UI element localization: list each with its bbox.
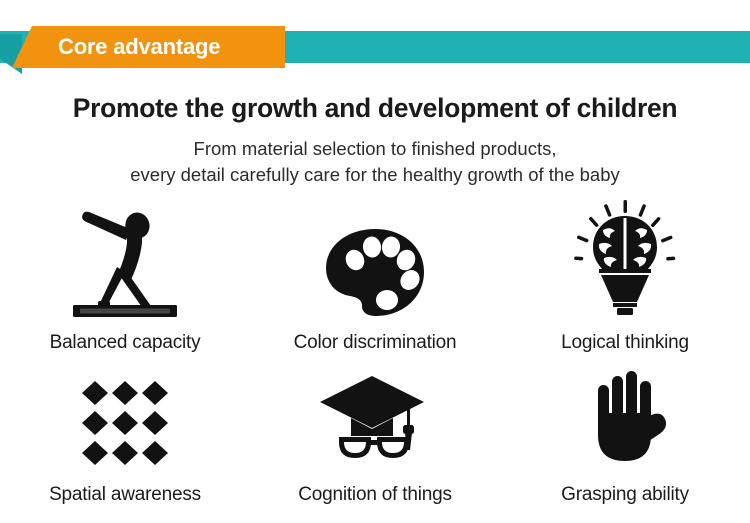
feature-item-balanced-capacity: Balanced capacity [0, 200, 250, 368]
feature-item-spatial-awareness: Spatial awareness [0, 368, 250, 523]
feature-label: Balanced capacity [50, 332, 201, 354]
subtitle-line-2: every detail carefully care for the heal… [0, 162, 750, 188]
advantage-section: Core advantage Promote the growth and de… [0, 0, 750, 523]
balance-beam-gymnast-icon [67, 200, 183, 318]
banner-title: Core advantage [58, 26, 285, 68]
feature-row-2: Spatial awareness [0, 368, 750, 523]
feature-label: Spatial awareness [49, 484, 201, 506]
feature-label: Grasping ability [561, 484, 689, 506]
page-subtitle: From material selection to finished prod… [0, 136, 750, 188]
graduation-cap-glasses-icon [319, 368, 431, 468]
core-advantage-banner: Core advantage [0, 0, 750, 90]
banner-orange-tag: Core advantage [12, 26, 285, 68]
feature-label: Logical thinking [561, 332, 689, 354]
brain-lightbulb-icon [573, 200, 677, 318]
feature-item-logical-thinking: Logical thinking [500, 200, 750, 368]
feature-label: Color discrimination [294, 332, 457, 354]
feature-row-1: Balanced capacity Color discrimin [0, 200, 750, 368]
feature-label: Cognition of things [298, 484, 452, 506]
feature-item-color-discrimination: Color discrimination [250, 200, 500, 368]
open-hand-icon [581, 368, 669, 468]
feature-item-grasping-ability: Grasping ability [500, 368, 750, 523]
page-title: Promote the growth and development of ch… [0, 93, 750, 124]
diamond-grid-icon [77, 368, 173, 468]
paint-palette-icon [321, 200, 429, 318]
feature-grid: Balanced capacity Color discrimin [0, 200, 750, 523]
subtitle-line-1: From material selection to finished prod… [0, 136, 750, 162]
feature-item-cognition-of-things: Cognition of things [250, 368, 500, 523]
